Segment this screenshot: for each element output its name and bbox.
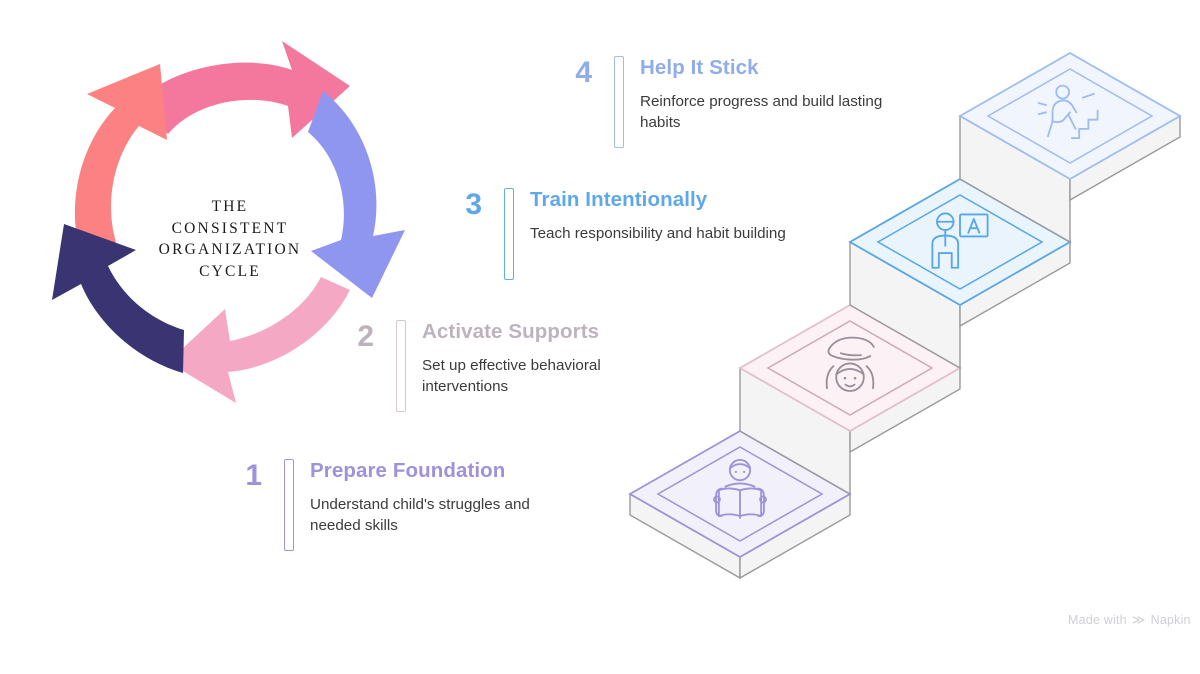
napkin-watermark: Made with ≫ Napkin	[1068, 612, 1191, 628]
step-accent-bar-2	[396, 320, 406, 412]
step-number-1: 1	[228, 461, 262, 491]
isometric-staircase	[612, 22, 1200, 602]
watermark-brand: Napkin	[1151, 613, 1191, 627]
cycle-center-label: THE CONSISTENT ORGANIZATION CYCLE	[125, 196, 335, 282]
step-description-1: Understand child's struggles and needed …	[310, 494, 575, 537]
arrow-bottom-pink	[168, 277, 350, 403]
step-accent-bar-3	[504, 188, 514, 280]
step-number-2: 2	[340, 322, 374, 352]
step-number-4: 4	[558, 58, 592, 88]
watermark-prefix: Made with	[1068, 613, 1127, 627]
napkin-logo-icon: ≫	[1132, 612, 1146, 628]
infographic-canvas: THE CONSISTENT ORGANIZATION CYCLE 1 Prep…	[0, 0, 1200, 674]
step-accent-bar-1	[284, 459, 294, 551]
step-text-1: Prepare Foundation Understand child's st…	[310, 459, 575, 537]
step-number-3: 3	[448, 190, 482, 220]
step-item-1[interactable]: 1 Prepare Foundation Understand child's …	[228, 459, 575, 551]
step-title-1: Prepare Foundation	[310, 460, 575, 483]
